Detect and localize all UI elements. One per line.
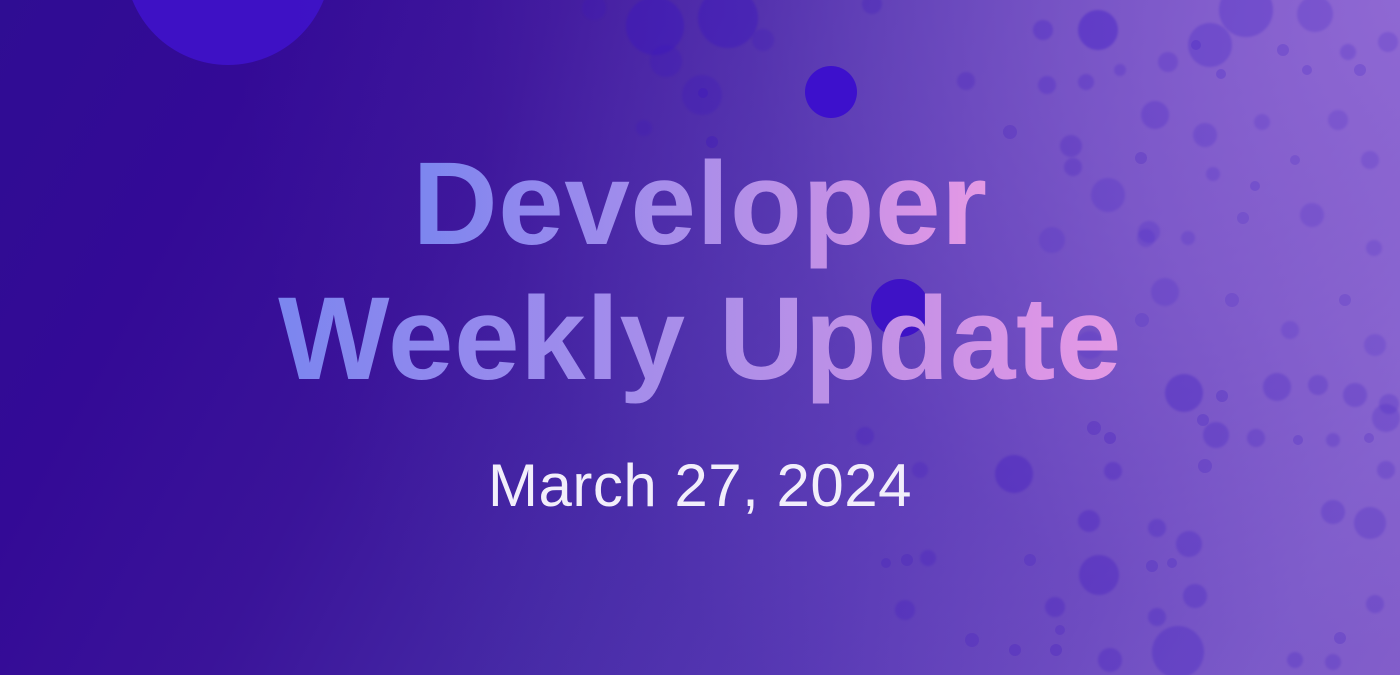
banner-content: Developer Weekly Update March 27, 2024	[0, 0, 1400, 675]
page-title-line-2: Weekly Update	[278, 272, 1122, 407]
weekly-update-banner: Developer Weekly Update March 27, 2024	[0, 0, 1400, 675]
page-title-line-1: Developer	[412, 137, 987, 272]
issue-date: March 27, 2024	[488, 451, 912, 520]
